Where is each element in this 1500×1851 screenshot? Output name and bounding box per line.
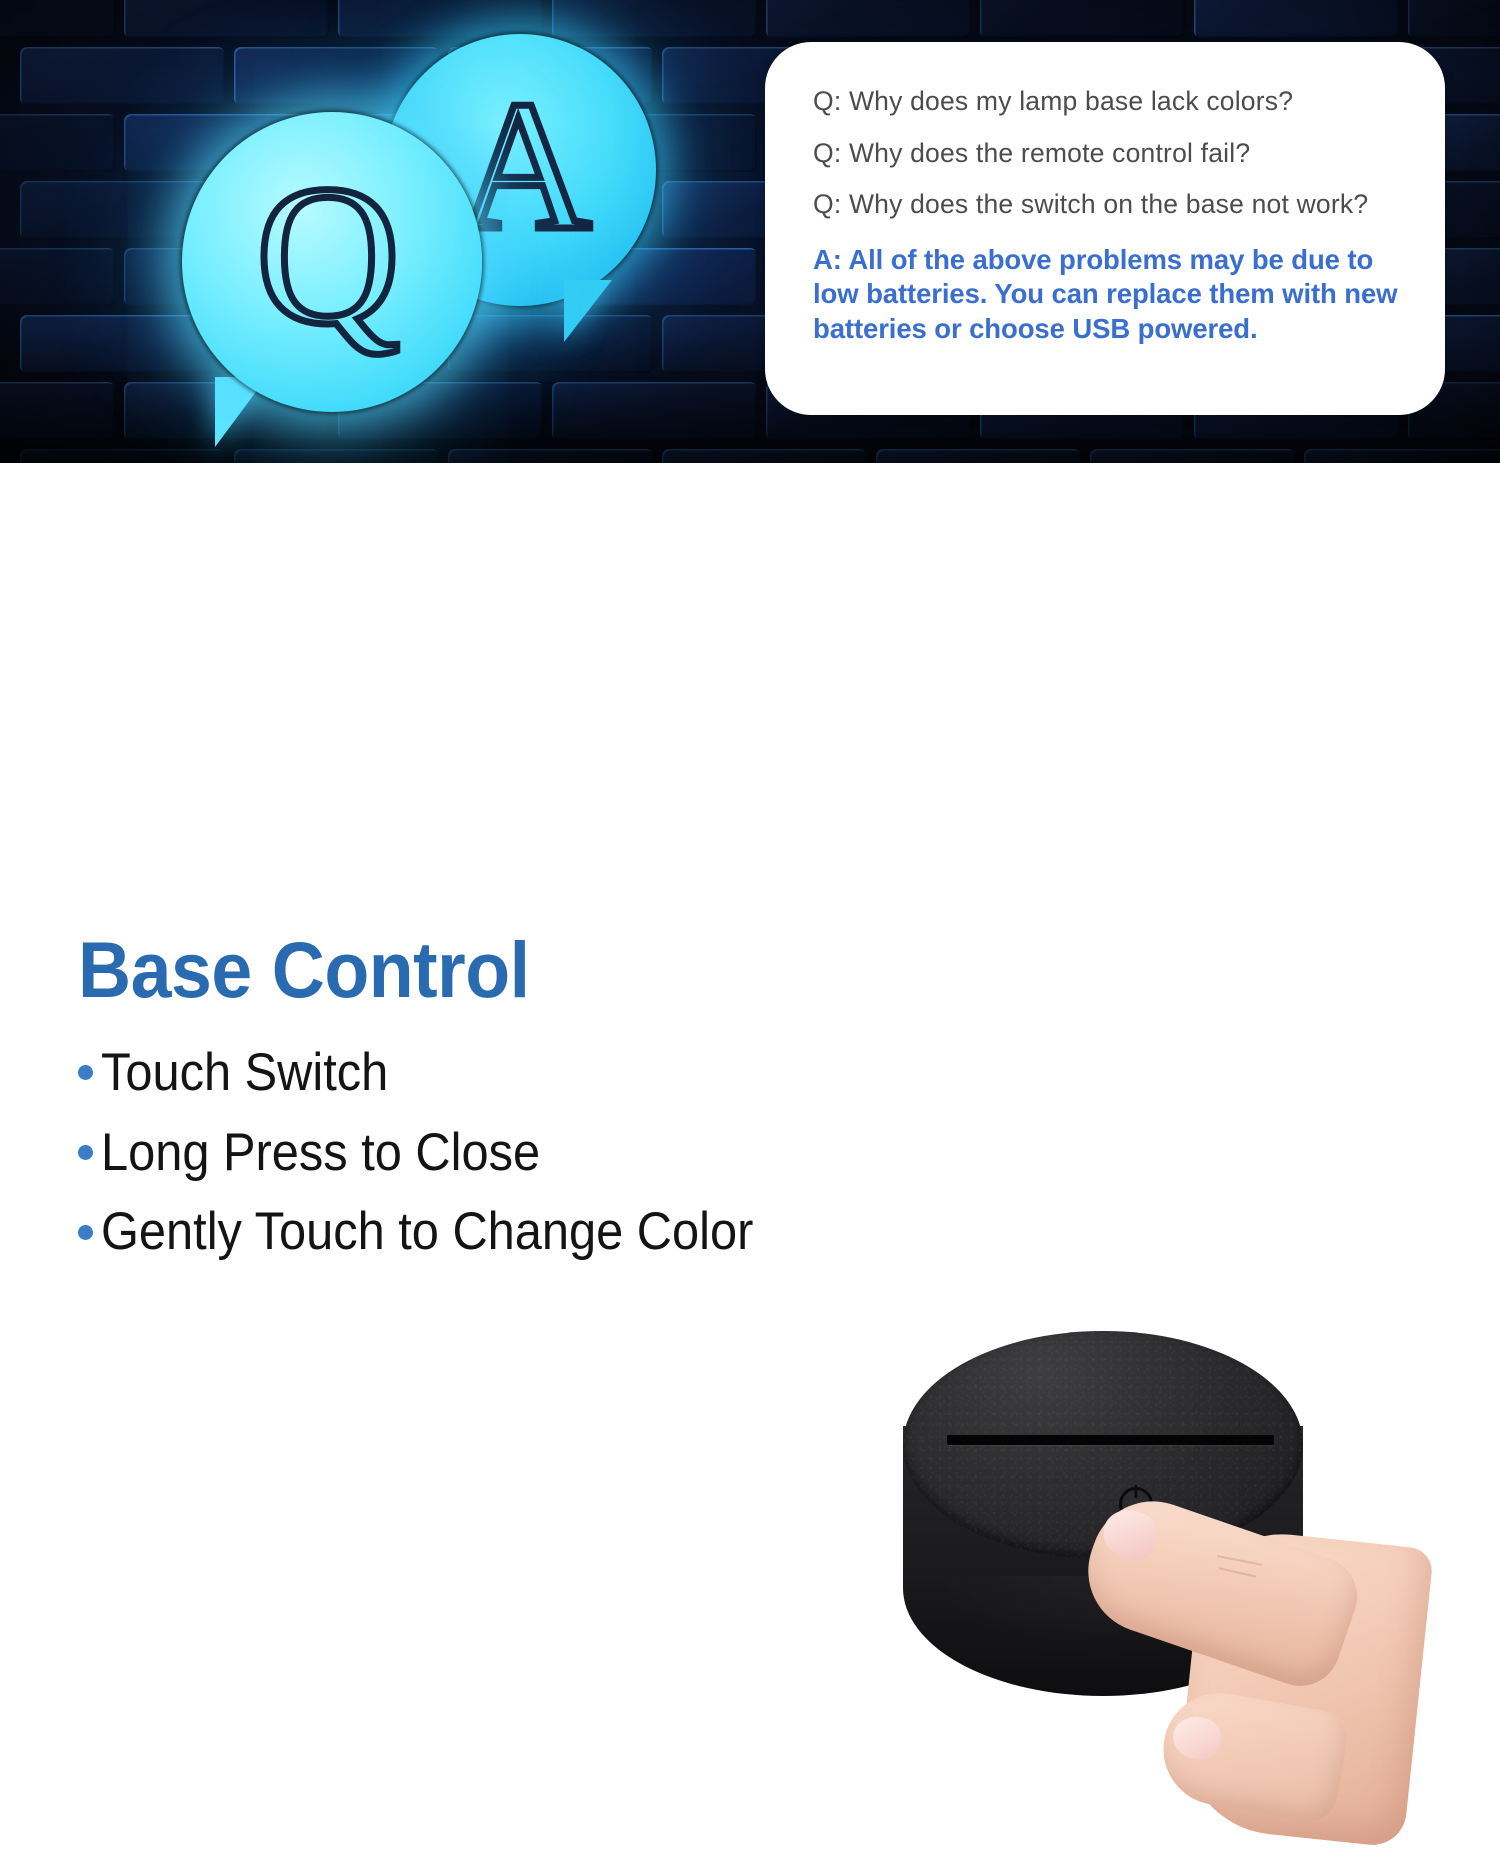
brick — [1090, 449, 1295, 463]
bullet-dot-icon — [78, 1145, 93, 1160]
brick — [876, 449, 1081, 463]
acrylic-panel-slot — [947, 1435, 1274, 1445]
question-line-2: Q: Why does the remote control fail? — [813, 140, 1405, 167]
index-finger-nail — [1097, 1503, 1164, 1566]
speech-bubbles-group: A Q — [160, 22, 680, 442]
list-item: Long Press to Close — [78, 1125, 798, 1181]
brick — [1194, 0, 1399, 38]
brick — [662, 449, 867, 463]
brick — [1304, 449, 1500, 463]
brick — [980, 0, 1185, 38]
brick — [0, 382, 115, 440]
knuckle-crease — [1217, 1555, 1263, 1566]
qa-banner: A Q Q: Why does my lamp base lack colors… — [0, 0, 1500, 463]
bullet-dot-icon — [78, 1065, 93, 1080]
base-control-text-column: Base Control Touch Switch Long Press to … — [78, 930, 798, 1284]
brick — [0, 248, 115, 306]
speech-bubble-tail-a — [564, 280, 612, 342]
answer-text: A: All of the above problems may be due … — [813, 243, 1405, 348]
list-item: Gently Touch to Change Color — [78, 1204, 798, 1260]
bubble-letter-q: Q — [256, 156, 400, 356]
qa-text-card: Q: Why does my lamp base lack colors? Q:… — [765, 42, 1445, 415]
list-item-label: Long Press to Close — [101, 1125, 540, 1181]
lamp-base-photo — [895, 1331, 1395, 1851]
list-item-label: Touch Switch — [101, 1045, 388, 1101]
brick — [20, 449, 225, 463]
base-control-section: Base Control Touch Switch Long Press to … — [0, 463, 1500, 1500]
brick — [0, 0, 115, 38]
brick — [234, 449, 439, 463]
page-title: Base Control — [78, 930, 748, 1009]
qa-card-content: Q: Why does my lamp base lack colors? Q:… — [765, 42, 1445, 347]
brick — [1408, 0, 1500, 38]
feature-list: Touch Switch Long Press to Close Gently … — [78, 1045, 798, 1260]
question-line-1: Q: Why does my lamp base lack colors? — [813, 88, 1405, 115]
brick — [766, 0, 971, 38]
list-item-label: Gently Touch to Change Color — [101, 1204, 753, 1260]
brick — [0, 114, 115, 172]
knuckle-crease — [1219, 1567, 1256, 1577]
speech-bubble-q: Q — [182, 112, 482, 412]
list-item: Touch Switch — [78, 1045, 798, 1101]
bullet-dot-icon — [78, 1225, 93, 1240]
brick — [448, 449, 653, 463]
hand-pressing-button — [1093, 1481, 1403, 1851]
middle-finger-nail — [1170, 1713, 1225, 1763]
question-line-3: Q: Why does the switch on the base not w… — [813, 191, 1405, 218]
